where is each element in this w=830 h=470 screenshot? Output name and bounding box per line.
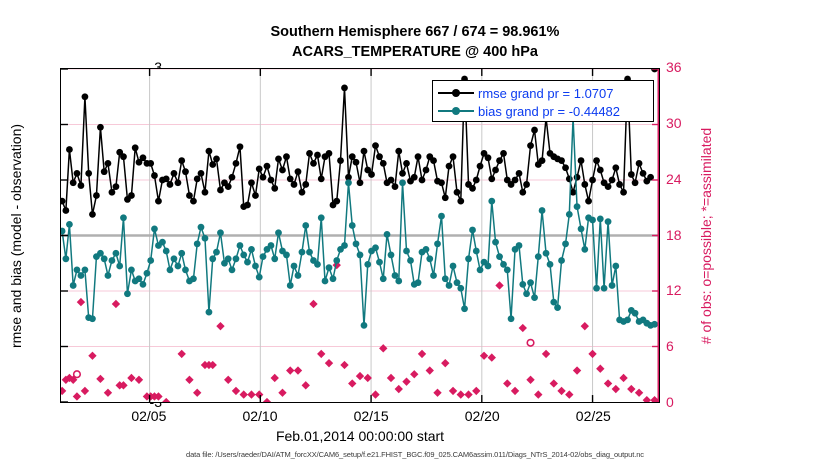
- obs-assimilated-marker: [604, 379, 612, 387]
- series-point: [299, 189, 306, 196]
- obs-assimilated-marker: [573, 366, 581, 374]
- series-point: [473, 177, 480, 184]
- series-point: [244, 202, 251, 209]
- series-point: [341, 242, 348, 249]
- legend-swatch-rmse: [438, 86, 474, 100]
- y-tick-right-30: 30: [666, 115, 706, 131]
- series-point: [178, 157, 185, 164]
- series-point: [492, 239, 499, 246]
- series-point: [597, 215, 604, 222]
- series-point: [66, 146, 73, 153]
- series-point: [558, 257, 565, 264]
- obs-assimilated-marker: [635, 389, 643, 397]
- title-line-1: Southern Hemisphere 667 / 674 = 98.961%: [271, 24, 560, 40]
- series-point: [66, 221, 73, 228]
- series-point: [233, 160, 240, 167]
- data-file-footer: data file: /Users/raeder/DAI/ATM_forcXX/…: [0, 450, 830, 459]
- obs-assimilated-marker: [418, 350, 426, 358]
- page-title: Southern Hemisphere 667 / 674 = 98.961% …: [0, 22, 830, 62]
- series-point: [403, 248, 410, 255]
- series-point: [287, 176, 294, 183]
- series-point: [574, 174, 581, 181]
- series-point: [597, 167, 604, 174]
- series-point: [454, 189, 461, 196]
- legend-swatch-bias: [438, 104, 474, 118]
- series-point: [372, 142, 379, 149]
- obs-assimilated-marker: [240, 390, 248, 398]
- series-point: [454, 279, 461, 286]
- series-point: [78, 272, 85, 279]
- obs-assimilated-marker: [286, 366, 294, 374]
- obs-possible-marker: [74, 371, 81, 378]
- y-tick-right-0: 0: [666, 394, 706, 410]
- series-point: [275, 156, 282, 163]
- series-point: [357, 252, 364, 259]
- series-point: [283, 153, 290, 160]
- series-point: [426, 255, 433, 262]
- series-point: [539, 157, 546, 164]
- series-point: [140, 154, 147, 161]
- legend-item-rmse[interactable]: rmse grand pr = 1.0707: [438, 84, 648, 102]
- series-point: [388, 177, 395, 184]
- series-point: [388, 252, 395, 259]
- series-point: [171, 170, 178, 177]
- series-point: [198, 170, 205, 177]
- series-point: [504, 267, 511, 274]
- series-point: [450, 153, 457, 160]
- obs-assimilated-marker: [650, 396, 658, 402]
- series-point: [302, 222, 309, 229]
- series-point: [256, 274, 263, 281]
- series-point: [268, 242, 275, 249]
- obs-assimilated-marker: [185, 376, 193, 384]
- obs-assimilated-marker: [627, 385, 635, 393]
- obs-assimilated-marker: [96, 375, 104, 383]
- series-point: [194, 176, 201, 183]
- series-point: [473, 248, 480, 255]
- series-point: [260, 174, 267, 181]
- series-point: [120, 214, 127, 221]
- series-point: [314, 261, 321, 268]
- series-point: [89, 315, 96, 322]
- obs-assimilated-marker: [457, 390, 465, 398]
- series-point: [105, 272, 112, 279]
- series-point: [190, 275, 197, 282]
- obs-assimilated-marker: [77, 298, 85, 306]
- series-point: [302, 181, 309, 188]
- series-point: [651, 321, 658, 328]
- obs-assimilated-marker: [348, 379, 356, 387]
- series-point: [61, 198, 65, 205]
- y-axis-left-label-wrap: rmse and bias (model - observation): [22, 68, 23, 403]
- obs-assimilated-marker: [340, 361, 348, 369]
- series-point: [547, 261, 554, 268]
- series-point: [299, 249, 306, 256]
- y-tick-right-12: 12: [666, 282, 706, 298]
- obs-assimilated-marker: [325, 359, 333, 367]
- series-point: [488, 198, 495, 205]
- series-point: [357, 179, 364, 186]
- series-point: [399, 170, 406, 177]
- obs-assimilated-marker: [263, 398, 271, 402]
- series-point: [442, 275, 449, 282]
- obs-assimilated-marker: [519, 324, 527, 332]
- x-tick-02-05: 02/05: [109, 408, 189, 424]
- series-point: [632, 179, 639, 186]
- series-point: [558, 157, 565, 164]
- series-point: [457, 285, 464, 292]
- series-point: [605, 183, 612, 190]
- series-point: [403, 160, 410, 167]
- obs-assimilated-marker: [302, 381, 310, 389]
- obs-assimilated-marker: [441, 359, 449, 367]
- series-point: [198, 224, 205, 231]
- series-point: [500, 261, 507, 268]
- y-axis-right-label-wrap: # of obs: o=possible; *=assimilated: [706, 68, 707, 403]
- series-point: [271, 255, 278, 262]
- series-point: [225, 255, 232, 262]
- series-point: [147, 160, 154, 167]
- obs-assimilated-marker: [379, 344, 387, 352]
- series-point: [423, 167, 430, 174]
- series-point: [345, 179, 352, 186]
- series-line: [62, 118, 654, 326]
- series-point: [217, 187, 224, 194]
- series-point: [271, 185, 278, 192]
- series-point: [279, 167, 286, 174]
- series-point: [330, 275, 337, 282]
- series-point: [163, 248, 170, 255]
- series-point: [612, 263, 619, 270]
- series-point: [109, 189, 116, 196]
- obs-assimilated-marker: [73, 392, 81, 400]
- series-point: [337, 157, 344, 164]
- series-point: [116, 263, 123, 270]
- series-point: [306, 249, 313, 256]
- series-point: [186, 192, 193, 199]
- series-point: [248, 246, 255, 253]
- series-point: [229, 267, 236, 274]
- series-point: [333, 257, 340, 264]
- obs-assimilated-marker: [104, 389, 112, 397]
- series-point: [411, 174, 418, 181]
- obs-assimilated-marker: [309, 300, 317, 308]
- series-point: [314, 152, 321, 159]
- series-point: [101, 168, 108, 175]
- obs-assimilated-marker: [565, 390, 573, 398]
- series-point: [333, 198, 340, 205]
- series-point: [609, 177, 616, 184]
- y-tick-right-36: 36: [666, 59, 706, 75]
- series-point: [380, 160, 387, 167]
- obs-assimilated-marker: [534, 390, 542, 398]
- series-point: [209, 255, 216, 262]
- series-point: [376, 153, 383, 160]
- series-point: [519, 281, 526, 288]
- obs-assimilated-marker: [255, 390, 263, 398]
- series-point: [543, 250, 550, 257]
- series-point: [578, 225, 585, 232]
- series-point: [252, 192, 259, 199]
- series-point: [516, 170, 523, 177]
- series-point: [217, 229, 224, 236]
- series-point: [612, 164, 619, 171]
- series-point: [128, 192, 135, 199]
- series-point: [233, 255, 240, 262]
- series-point: [477, 163, 484, 170]
- series-point: [361, 322, 368, 329]
- series-point: [376, 259, 383, 266]
- series-point: [78, 182, 85, 189]
- series-point: [151, 172, 158, 179]
- series-point: [616, 181, 623, 188]
- series-point: [206, 148, 213, 155]
- series-point: [175, 179, 182, 186]
- series-point: [399, 179, 406, 186]
- series-point: [593, 157, 600, 164]
- series-point: [74, 170, 81, 177]
- obs-assimilated-marker: [317, 350, 325, 358]
- series-point: [140, 281, 147, 288]
- x-axis-label: Feb.01,2014 00:00:00 start: [60, 428, 660, 444]
- series-point: [194, 240, 201, 247]
- series-point: [70, 282, 77, 289]
- series-point: [105, 160, 112, 167]
- obs-assimilated-marker: [247, 390, 255, 398]
- series-point: [392, 272, 399, 279]
- obs-assimilated-marker: [550, 379, 558, 387]
- series-point: [566, 211, 573, 218]
- series-point: [380, 275, 387, 282]
- series-point: [182, 267, 189, 274]
- series-point: [430, 157, 437, 164]
- series-point: [384, 231, 391, 238]
- series-point: [283, 252, 290, 259]
- series-point: [516, 242, 523, 249]
- series-point: [562, 164, 569, 171]
- series-point: [62, 207, 69, 214]
- series-point: [496, 253, 503, 260]
- obs-assimilated-marker: [356, 372, 364, 380]
- series-point: [531, 294, 538, 301]
- series-point: [322, 278, 329, 285]
- series-point: [372, 244, 379, 251]
- series-point: [430, 272, 437, 279]
- series-point: [167, 267, 174, 274]
- series-point: [419, 177, 426, 184]
- series-point: [306, 150, 313, 157]
- obs-assimilated-marker: [402, 377, 410, 385]
- series-point: [101, 255, 108, 262]
- chart-legend[interactable]: rmse grand pr = 1.0707 bias grand pr = -…: [432, 80, 654, 122]
- series-point: [62, 255, 69, 262]
- series-point: [182, 168, 189, 175]
- obs-assimilated-marker: [542, 350, 550, 358]
- series-point: [438, 179, 445, 186]
- series-point: [636, 160, 643, 167]
- obs-assimilated-marker: [503, 379, 511, 387]
- series-point: [415, 153, 422, 160]
- series-point: [159, 239, 166, 246]
- series-point: [353, 159, 360, 166]
- series-point: [361, 148, 368, 155]
- series-point: [496, 157, 503, 164]
- obs-assimilated-marker: [112, 300, 120, 308]
- series-point: [469, 227, 476, 234]
- obs-assimilated-marker: [596, 365, 604, 373]
- series-point: [74, 267, 81, 274]
- series-point: [252, 263, 259, 270]
- series-point: [519, 189, 526, 196]
- series-point: [609, 282, 616, 289]
- series-point: [457, 198, 464, 205]
- y-tick-right-6: 6: [666, 338, 706, 354]
- series-point: [120, 153, 127, 160]
- series-point: [295, 272, 302, 279]
- series-point: [605, 218, 612, 225]
- obs-assimilated-marker: [581, 322, 589, 330]
- obs-assimilated-marker: [193, 389, 201, 397]
- series-point: [240, 252, 247, 259]
- series-point: [624, 316, 631, 323]
- series-point: [291, 181, 298, 188]
- series-point: [578, 157, 585, 164]
- series-point: [310, 160, 317, 167]
- series-point: [450, 263, 457, 270]
- obs-assimilated-marker: [216, 322, 224, 330]
- series-point: [523, 181, 530, 188]
- series-point: [202, 189, 209, 196]
- obs-assimilated-marker: [81, 387, 89, 395]
- obs-assimilated-marker: [511, 387, 519, 395]
- series-point: [438, 213, 445, 220]
- series-point: [368, 171, 375, 178]
- y-tick-right-24: 24: [666, 171, 706, 187]
- series-point: [640, 170, 647, 177]
- series-point: [237, 143, 244, 150]
- series-point: [229, 174, 236, 181]
- series-point: [318, 176, 325, 183]
- obs-assimilated-marker: [472, 387, 480, 395]
- series-point: [97, 124, 104, 131]
- series-point: [89, 211, 96, 218]
- series-point: [190, 198, 197, 205]
- series-point: [113, 183, 120, 190]
- series-bias: [61, 114, 658, 328]
- series-point: [318, 214, 325, 221]
- series-point: [485, 154, 492, 161]
- obs-possible-marker: [527, 340, 534, 347]
- obs-assimilated-marker: [526, 376, 534, 384]
- series-point: [465, 255, 472, 262]
- series-point: [562, 240, 569, 247]
- series-point: [82, 267, 89, 274]
- series-point: [488, 176, 495, 183]
- series-point: [500, 150, 507, 157]
- legend-item-bias[interactable]: bias grand pr = -0.44482: [438, 102, 648, 120]
- series-point: [264, 163, 271, 170]
- obs-assimilated-marker: [464, 390, 472, 398]
- x-tick-02-10: 02/10: [220, 408, 300, 424]
- series-point: [550, 299, 557, 306]
- series-point: [256, 166, 263, 173]
- series-point: [353, 240, 360, 247]
- series-point: [392, 183, 399, 190]
- series-point: [326, 150, 333, 157]
- obs-assimilated-marker: [61, 387, 66, 395]
- obs-assimilated-marker: [449, 387, 457, 395]
- series-point: [275, 229, 282, 236]
- series-point: [574, 203, 581, 210]
- series-point: [632, 310, 639, 317]
- x-tick-02-25: 02/25: [553, 408, 633, 424]
- series-point: [225, 183, 232, 190]
- obs-assimilated-marker: [178, 350, 186, 358]
- series-point: [535, 253, 542, 260]
- obs-assimilated-marker: [426, 366, 434, 374]
- series-point: [395, 278, 402, 285]
- series-point: [70, 179, 77, 186]
- series-point: [209, 161, 216, 168]
- obs-assimilated-marker: [480, 352, 488, 360]
- series-point: [248, 179, 255, 186]
- series-point: [97, 250, 104, 257]
- series-point: [531, 127, 538, 134]
- series-point: [628, 171, 635, 178]
- legend-label-bias: bias grand pr = -0.44482: [474, 104, 620, 119]
- series-point: [407, 257, 414, 264]
- y-axis-left-label: rmse and bias (model - observation): [8, 123, 24, 347]
- series-point: [82, 93, 89, 100]
- obs-assimilated-marker: [224, 376, 232, 384]
- series-point: [132, 144, 139, 151]
- series-point: [566, 176, 573, 183]
- obs-assimilated-marker: [619, 374, 627, 382]
- obs-assimilated-marker: [278, 389, 286, 397]
- series-point: [446, 163, 453, 170]
- legend-label-rmse: rmse grand pr = 1.0707: [474, 86, 614, 101]
- obs-assimilated-marker: [588, 350, 596, 358]
- series-point: [446, 282, 453, 289]
- series-point: [113, 250, 120, 257]
- series-point: [585, 198, 592, 205]
- series-point: [175, 263, 182, 270]
- obs-assimilated-marker: [495, 281, 503, 289]
- series-point: [341, 84, 348, 91]
- series-point: [124, 290, 131, 297]
- series-point: [581, 181, 588, 188]
- series-point: [527, 142, 534, 149]
- x-tick-02-20: 02/20: [442, 408, 522, 424]
- series-point: [213, 156, 220, 163]
- series-point: [523, 290, 530, 297]
- series-point: [485, 263, 492, 270]
- obs-assimilated-marker: [557, 387, 565, 395]
- series-point: [85, 170, 92, 177]
- series-point: [601, 285, 608, 292]
- series-point: [589, 217, 596, 224]
- series-point: [128, 267, 135, 274]
- x-tick-02-15: 02/15: [331, 408, 411, 424]
- series-point: [508, 315, 515, 322]
- series-point: [395, 148, 402, 155]
- series-point: [287, 282, 294, 289]
- obs-assimilated-marker: [433, 389, 441, 397]
- series-point: [163, 176, 170, 183]
- series-point: [260, 253, 267, 260]
- series-point: [213, 249, 220, 256]
- series-point: [61, 228, 65, 235]
